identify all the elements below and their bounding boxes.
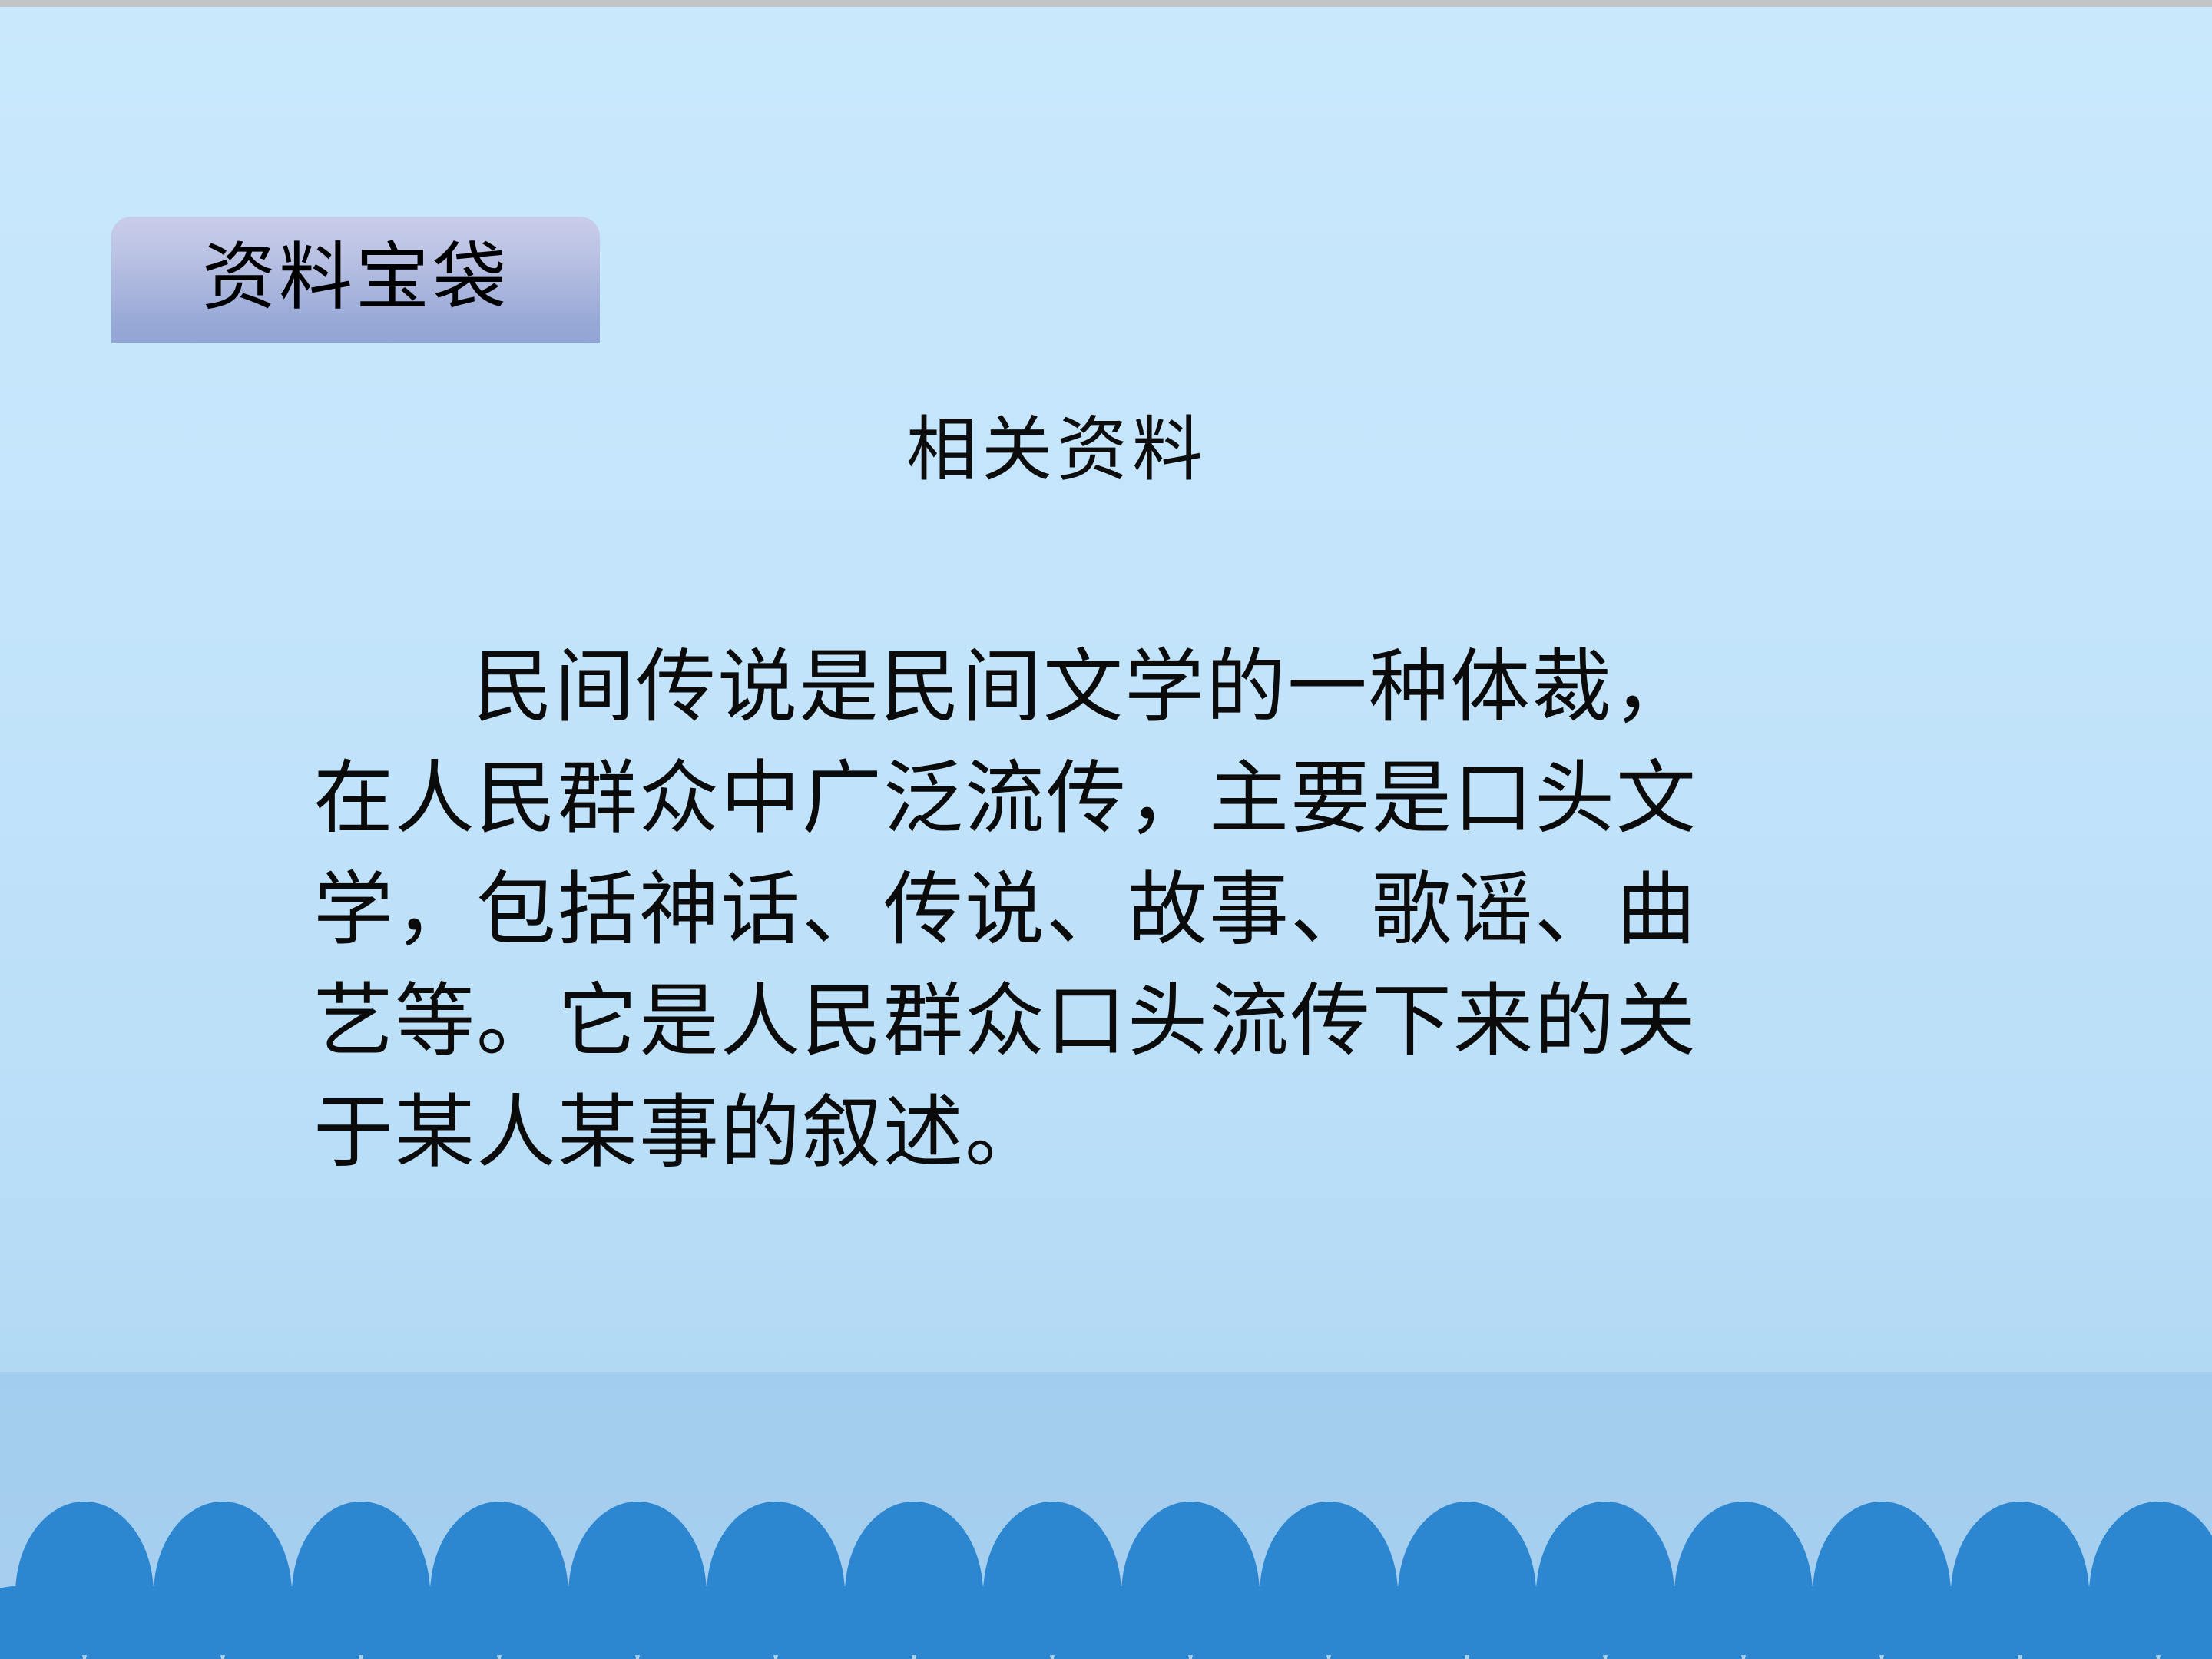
scallop-arch: [223, 1586, 361, 1659]
scallop-arch: [0, 1586, 84, 1659]
content-heading: 相关资料: [906, 415, 1207, 485]
scallop-arch: [2020, 1586, 2158, 1659]
scallop-arch: [776, 1586, 914, 1659]
scallop-arch: [1329, 1586, 1467, 1659]
scallop-arch: [1743, 1586, 1882, 1659]
scallop-arch: [1605, 1586, 1743, 1659]
content-paragraph: 民间传说是民间文学的一种体裁， 在人民群众中广泛流传，主要是口头文 学，包括神话…: [313, 631, 2049, 1188]
scallop-arch: [1467, 1586, 1605, 1659]
scallop-arch: [2158, 1586, 2212, 1659]
scallop-arch: [637, 1586, 776, 1659]
scallop-arch: [499, 1586, 637, 1659]
scallop-arch: [914, 1586, 1052, 1659]
scallop-arch: [1882, 1586, 2020, 1659]
scallop-row-front: [0, 1586, 2212, 1659]
slide-background-lower-band: [0, 1372, 2212, 1659]
scallop-arch: [84, 1586, 223, 1659]
slide-content: 相关资料 民间传说是民间文学的一种体裁， 在人民群众中广泛流传，主要是口头文 学…: [0, 0, 2212, 1372]
paragraph-line: 学，包括神话、传说、故事、歌谣、曲: [313, 854, 2049, 965]
scallop-arch: [1190, 1586, 1329, 1659]
paragraph-line: 于某人某事的叙述。: [313, 1077, 2049, 1188]
paragraph-line: 在人民群众中广泛流传，主要是口头文: [313, 743, 2049, 854]
paragraph-line: 艺等。它是人民群众口头流传下来的关: [313, 965, 2049, 1077]
paragraph-line: 民间传说是民间文学的一种体裁，: [313, 631, 2049, 743]
slide-canvas: 资料宝袋 相关资料 民间传说是民间文学的一种体裁， 在人民群众中广泛流传，主要是…: [0, 0, 2212, 1659]
scallop-arch: [1052, 1586, 1190, 1659]
scallop-arch: [361, 1586, 499, 1659]
